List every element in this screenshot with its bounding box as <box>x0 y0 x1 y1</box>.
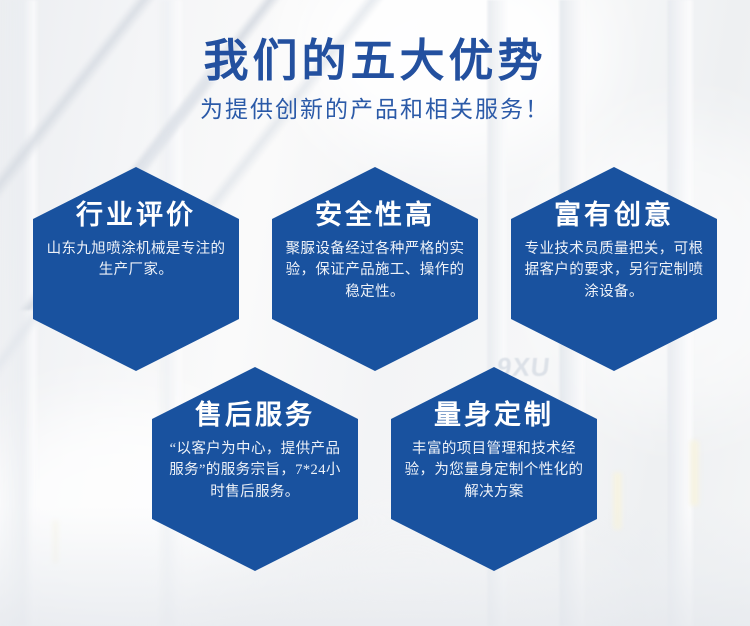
page-subtitle: 为提供创新的产品和相关服务！ <box>0 96 750 124</box>
advantage-body: “以客户为中心，提供产品服务”的服务宗旨，7*24小时售后服务。 <box>164 439 346 503</box>
advantage-card-tailor-made[interactable]: 量身定制 丰富的项目管理和技术经验，为您量身定制个性化的解决方案 <box>391 367 597 571</box>
heading-block: 我们的五大优势 为提供创新的产品和相关服务！ <box>0 36 750 124</box>
advantage-card-creative[interactable]: 富有创意 专业技术员质量把关，可根据客户的要求，另行定制喷涂设备。 <box>511 167 717 371</box>
advantage-title: 安全性高 <box>315 201 435 231</box>
advantage-card-high-safety[interactable]: 安全性高 聚脲设备经过各种严格的实验，保证产品施工、操作的稳定性。 <box>272 167 478 371</box>
advantage-body: 专业技术员质量把关，可根据客户的要求，另行定制喷涂设备。 <box>523 239 705 303</box>
advantage-body: 丰富的项目管理和技术经验，为您量身定制个性化的解决方案 <box>403 439 585 503</box>
page-title: 我们的五大优势 <box>0 36 750 86</box>
advantage-card-after-sales-service[interactable]: 售后服务 “以客户为中心，提供产品服务”的服务宗旨，7*24小时售后服务。 <box>152 367 358 571</box>
advantage-title: 量身定制 <box>434 401 554 431</box>
advantage-body: 聚脲设备经过各种严格的实验，保证产品施工、操作的稳定性。 <box>284 239 466 303</box>
advantages-banner: 9XU 我们的五大优势 为提供创新的产品和相关服务！ 行业评价 山东九旭喷涂机械… <box>0 0 750 626</box>
advantage-card-industry-evaluation[interactable]: 行业评价 山东九旭喷涂机械是专注的生产厂家。 <box>33 167 239 371</box>
advantage-title: 行业评价 <box>76 201 196 231</box>
advantage-title: 售后服务 <box>195 401 315 431</box>
advantage-title: 富有创意 <box>554 201 674 231</box>
advantage-body: 山东九旭喷涂机械是专注的生产厂家。 <box>45 239 227 282</box>
